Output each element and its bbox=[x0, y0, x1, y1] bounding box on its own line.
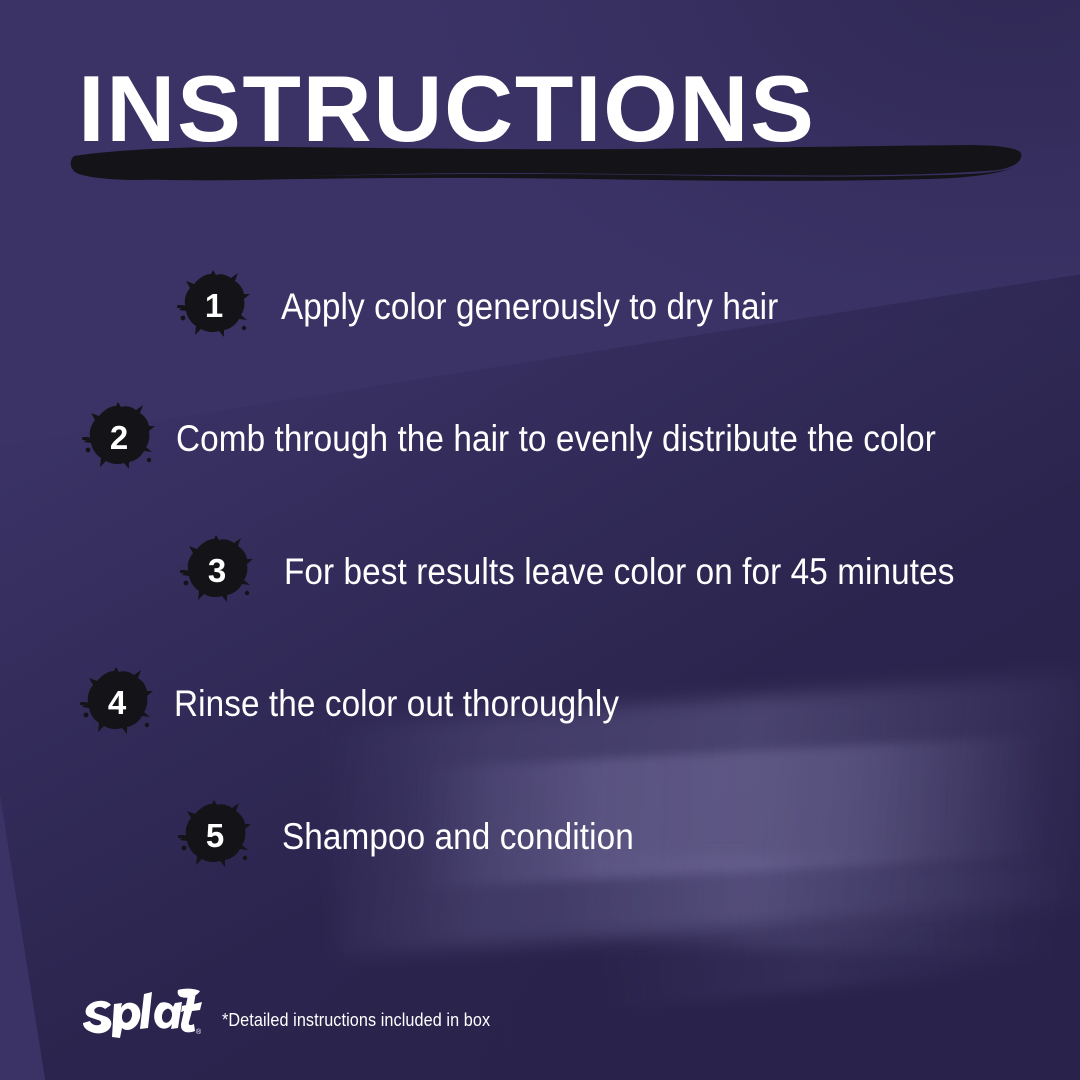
step-number: 4 bbox=[78, 665, 156, 743]
poster-footer: ® *Detailed instructions included in box bbox=[78, 986, 520, 1038]
step-text: Shampoo and condition bbox=[282, 816, 634, 858]
page-title: INSTRUCTIONS bbox=[78, 62, 815, 156]
step-number: 5 bbox=[176, 798, 254, 876]
poster-header: INSTRUCTIONS bbox=[0, 0, 1080, 210]
svg-text:®: ® bbox=[196, 1028, 202, 1036]
step-number: 2 bbox=[80, 400, 158, 478]
step-text: Apply color generously to dry hair bbox=[281, 286, 778, 328]
step-number: 3 bbox=[178, 533, 256, 611]
list-item: 4 Rinse the color out thoroughly bbox=[78, 665, 669, 743]
list-item: 3 For best results leave color on for 45… bbox=[178, 533, 1029, 611]
step-text: Comb through the hair to evenly distribu… bbox=[176, 418, 936, 460]
splat-badge-icon: 3 bbox=[178, 533, 256, 611]
list-item: 5 Shampoo and condition bbox=[176, 798, 673, 876]
splat-badge-icon: 2 bbox=[80, 400, 158, 478]
list-item: 1 Apply color generously to dry hair bbox=[175, 268, 834, 346]
instructions-poster: INSTRUCTIONS 1 Apply color generously to… bbox=[0, 0, 1080, 1080]
splat-badge-icon: 1 bbox=[175, 268, 253, 346]
footer-disclaimer: *Detailed instructions included in box bbox=[222, 1010, 490, 1031]
step-number: 1 bbox=[175, 268, 253, 346]
splat-logo-icon: ® bbox=[78, 986, 206, 1038]
list-item: 2 Comb through the hair to evenly distri… bbox=[80, 400, 1020, 478]
splat-badge-icon: 5 bbox=[176, 798, 254, 876]
splat-badge-icon: 4 bbox=[78, 665, 156, 743]
step-text: Rinse the color out thoroughly bbox=[174, 683, 619, 725]
step-text: For best results leave color on for 45 m… bbox=[284, 551, 954, 593]
